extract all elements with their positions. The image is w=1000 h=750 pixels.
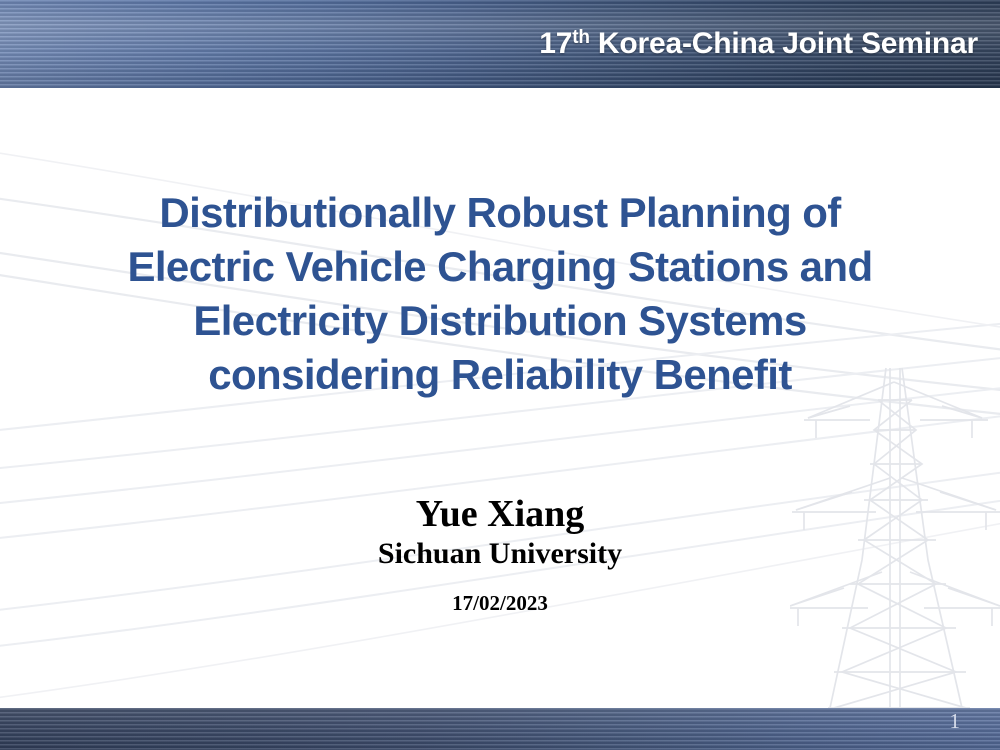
seminar-ordinal: 17 bbox=[539, 27, 572, 60]
presentation-date: 17/02/2023 bbox=[0, 590, 1000, 616]
title-line-2: Electric Vehicle Charging Stations and bbox=[40, 240, 960, 294]
author-block: Yue Xiang Sichuan University 17/02/2023 bbox=[0, 492, 1000, 616]
page-title: Distributionally Robust Planning of Elec… bbox=[40, 186, 960, 402]
author-affiliation: Sichuan University bbox=[0, 536, 1000, 572]
seminar-name: Korea-China Joint Seminar bbox=[598, 27, 978, 60]
title-line-3: Electricity Distribution Systems bbox=[40, 294, 960, 348]
seminar-ordinal-suffix: th bbox=[572, 27, 590, 48]
title-line-1: Distributionally Robust Planning of bbox=[40, 186, 960, 240]
footer-band bbox=[0, 708, 1000, 750]
seminar-title: 17th Korea-China Joint Seminar bbox=[539, 27, 978, 61]
title-slide: 17th Korea-China Joint Seminar Distribut… bbox=[0, 0, 1000, 750]
slide-number: 1 bbox=[950, 711, 961, 732]
title-line-4: considering Reliability Benefit bbox=[40, 348, 960, 402]
seminar-name-spacer bbox=[590, 27, 598, 60]
author-name: Yue Xiang bbox=[0, 492, 1000, 536]
